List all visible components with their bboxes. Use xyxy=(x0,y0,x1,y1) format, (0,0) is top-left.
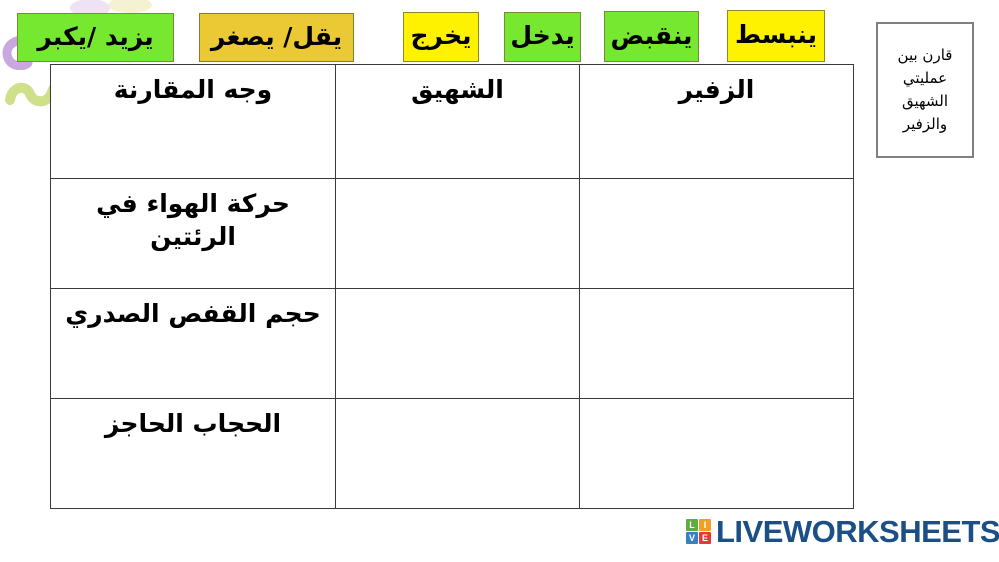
drop-zone-zafir-air-movement[interactable] xyxy=(580,179,854,289)
word-tile-tray: يزيد /يكبر يقل/ يصغر يخرج يدخل ينقبض ينب… xyxy=(0,0,999,64)
column-header-label: الشهيق xyxy=(348,73,567,106)
drop-zone-shaheeq-air-movement[interactable] xyxy=(336,179,580,289)
drop-zone-zafir-diaphragm[interactable] xyxy=(580,399,854,509)
column-header-label: الزفير xyxy=(592,73,841,106)
instruction-box: قارن بين عمليتي الشهيق والزفير xyxy=(876,22,974,158)
word-tile-label: ينقبض xyxy=(611,23,693,48)
word-tile-yadkhul[interactable]: يدخل xyxy=(504,12,581,62)
word-tile-label: يقل/ يصغر xyxy=(211,24,342,49)
table-row: حجم القفص الصدري xyxy=(51,289,854,399)
comparison-table: الزفير الشهيق وجه المقارنة حركة الهواء ف… xyxy=(50,64,854,509)
word-tile-label: يزيد /يكبر xyxy=(37,24,153,49)
row-label-text: حجم القفص الصدري xyxy=(63,297,323,330)
column-header-zafir: الزفير xyxy=(580,65,854,179)
logo-letter-l: L xyxy=(686,519,698,531)
word-tile-label: يدخل xyxy=(510,23,574,48)
table-row: حركة الهواء في الرئتين xyxy=(51,179,854,289)
column-header-aspect: وجه المقارنة xyxy=(51,65,336,179)
word-tile-yazeed-yakbur[interactable]: يزيد /يكبر xyxy=(17,13,174,62)
liveworksheets-logo: L I V E LIVEWORKSHEETS xyxy=(686,516,999,547)
drop-zone-shaheeq-diaphragm[interactable] xyxy=(336,399,580,509)
row-label-diaphragm: الحجاب الحاجز xyxy=(51,399,336,509)
row-label-text: حركة الهواء في الرئتين xyxy=(63,187,323,253)
row-label-text: الحجاب الحاجز xyxy=(63,407,323,440)
word-tile-yanbasit[interactable]: ينبسط xyxy=(727,10,825,62)
instruction-text: قارن بين عمليتي الشهيق والزفير xyxy=(884,44,966,137)
column-header-label: وجه المقارنة xyxy=(63,73,323,106)
word-tile-label: ينبسط xyxy=(735,22,817,47)
logo-letter-e: E xyxy=(699,532,711,544)
column-header-shaheeq: الشهيق xyxy=(336,65,580,179)
row-label-chest-volume: حجم القفص الصدري xyxy=(51,289,336,399)
drop-zone-shaheeq-chest-volume[interactable] xyxy=(336,289,580,399)
word-tile-yakhruj[interactable]: يخرج xyxy=(403,12,479,62)
logo-letter-v: V xyxy=(686,532,698,544)
table-header-row: الزفير الشهيق وجه المقارنة xyxy=(51,65,854,179)
word-tile-yaqil-yasghar[interactable]: يقل/ يصغر xyxy=(199,13,354,62)
row-label-air-movement: حركة الهواء في الرئتين xyxy=(51,179,336,289)
word-tile-label: يخرج xyxy=(411,23,472,48)
table-row: الحجاب الحاجز xyxy=(51,399,854,509)
logo-wordmark: LIVEWORKSHEETS xyxy=(716,516,999,547)
logo-letter-i: I xyxy=(699,519,711,531)
word-tile-yanqabid[interactable]: ينقبض xyxy=(604,11,699,62)
drop-zone-zafir-chest-volume[interactable] xyxy=(580,289,854,399)
logo-mark-icon: L I V E xyxy=(686,519,711,544)
